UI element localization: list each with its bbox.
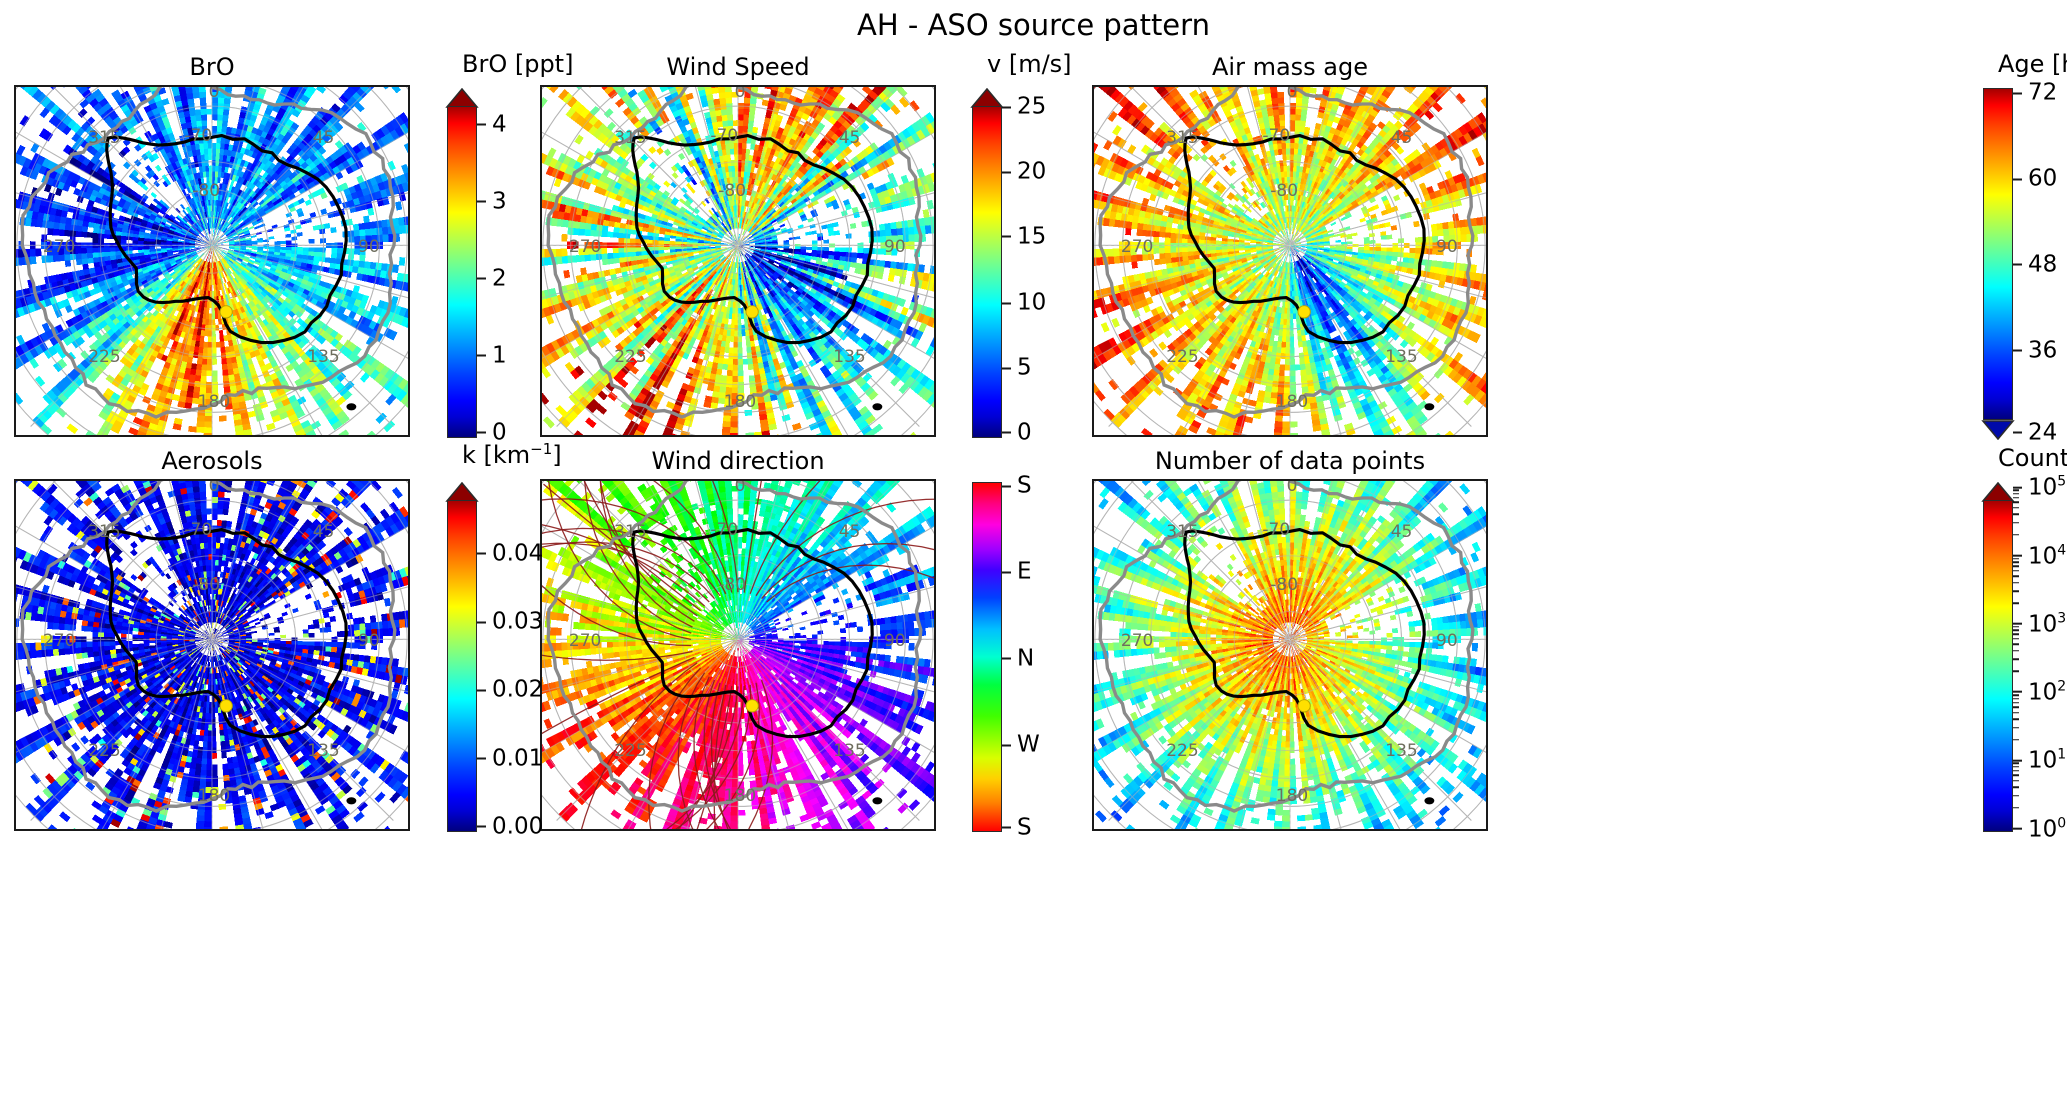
graticule-labels-number-of-data-points: 04590135180225270315-70-80 <box>1094 481 1486 829</box>
tick-dash <box>477 826 486 828</box>
colorbar-air-mass-age: Age [h]7260483624 <box>1983 88 2067 438</box>
colorbar-minor-tick <box>2013 514 2019 516</box>
colorbar-tick-number-of-data-points-1: 104 <box>2013 543 2066 568</box>
tick-dash <box>477 124 486 126</box>
panel-bro: BrO04590135180225270315-70-80 <box>14 85 410 437</box>
azimuth-label-0: 0 <box>209 479 220 496</box>
panel-wind-speed: Wind Speed04590135180225270315-70-80 <box>540 85 936 437</box>
colorbar-tick-wind-direction-1: E <box>1002 561 1032 584</box>
colorbar-gradient-wind-direction <box>972 482 1002 832</box>
tick-label: 10 <box>1017 292 1046 315</box>
colorbar-minor-tick <box>2013 712 2019 714</box>
azimuth-label-225: 225 <box>88 741 120 761</box>
tick-label: 100 <box>2028 816 2066 841</box>
colorbar-tick-wind-speed-0: 25 <box>1002 96 1046 119</box>
colorbar-minor-tick <box>2013 659 2019 661</box>
colorbar-tick-wind-direction-2: N <box>1002 647 1034 670</box>
azimuth-label-0: 0 <box>1287 85 1298 102</box>
panel-title-aerosols: Aerosols <box>14 447 410 475</box>
tick-dash <box>2013 178 2022 180</box>
azimuth-label-270: 270 <box>1121 631 1153 651</box>
colorbar-ticks-wind-direction: SENWS <box>1002 482 1122 832</box>
colorbar-minor-tick <box>2013 626 2019 628</box>
colorbar-ticks-number-of-data-points: 105104103102101100 <box>2013 500 2067 832</box>
colorbar-tick-air-mass-age-4: 24 <box>2013 421 2057 444</box>
axes-bro: 04590135180225270315-70-80 <box>14 85 410 437</box>
colorbar-minor-tick <box>2013 565 2019 567</box>
colorbar-extend-max-bro <box>445 88 479 108</box>
tick-label: W <box>1017 734 1040 757</box>
axes-wind-direction: 04590135180225270315-70-80 <box>540 479 936 831</box>
colorbar-tick-air-mass-age-3: 36 <box>2013 339 2057 362</box>
panel-title-wind-direction: Wind direction <box>540 447 936 475</box>
tick-dash <box>1002 106 1011 108</box>
tick-label: 25 <box>1017 96 1046 119</box>
tick-label: 0.00 <box>492 815 543 838</box>
colorbar-minor-tick <box>2013 650 2019 652</box>
axes-aerosols: 04590135180225270315-70-80 <box>14 479 410 831</box>
colorbar-tick-wind-speed-4: 5 <box>1002 357 1032 380</box>
colorbar-tick-number-of-data-points-2: 103 <box>2013 611 2066 636</box>
tick-dash <box>2013 555 2022 557</box>
tick-label: 5 <box>1017 357 1032 380</box>
colorbar-minor-tick <box>2013 787 2019 789</box>
azimuth-label-180: 180 <box>1276 786 1308 806</box>
azimuth-label-315: 315 <box>1166 128 1198 148</box>
colorbar-gradient-wind-speed <box>972 106 1002 438</box>
azimuth-label-45: 45 <box>839 128 861 148</box>
colorbar-minor-tick <box>2013 638 2019 640</box>
colorbar-ticks-aerosols: 0.040.030.020.010.00 <box>477 500 597 832</box>
tick-label: 36 <box>2028 339 2057 362</box>
colorbar-tick-wind-speed-5: 0 <box>1002 421 1032 444</box>
colorbar-tick-wind-speed-3: 10 <box>1002 292 1046 315</box>
azimuth-label-0: 0 <box>209 85 220 102</box>
latitude-label--80: -80 <box>718 181 746 201</box>
latitude-label--80: -80 <box>718 575 746 595</box>
colorbar-tick-bro-0: 4 <box>477 113 507 136</box>
tick-dash <box>1002 367 1011 369</box>
tick-label: 72 <box>2028 82 2057 105</box>
tick-dash <box>2013 691 2022 693</box>
colorbar-tick-aerosols-0: 0.04 <box>477 542 543 565</box>
tick-label: 0.04 <box>492 542 543 565</box>
tick-dash <box>2013 92 2022 94</box>
tick-dash <box>477 355 486 357</box>
colorbar-tick-aerosols-1: 0.03 <box>477 611 543 634</box>
panel-air-mass-age: Air mass age04590135180225270315-70-80 <box>1092 85 1488 437</box>
panel-wind-direction: Wind direction04590135180225270315-70-80 <box>540 479 936 831</box>
colorbar-extend-max-number-of-data-points <box>1981 482 2015 502</box>
colorbar-tick-wind-direction-4: S <box>1002 816 1032 839</box>
azimuth-label-45: 45 <box>839 522 861 542</box>
azimuth-label-270: 270 <box>43 237 75 257</box>
panel-title-bro: BrO <box>14 53 410 81</box>
tick-dash <box>2013 350 2022 352</box>
colorbar-extend-min-air-mass-age <box>1981 420 2015 440</box>
azimuth-label-270: 270 <box>43 631 75 651</box>
tick-dash <box>477 278 486 280</box>
colorbar-ticks-bro: 43210 <box>477 106 597 438</box>
azimuth-label-135: 135 <box>307 741 339 761</box>
latitude-label--80: -80 <box>192 181 220 201</box>
colorbar-tick-air-mass-age-2: 48 <box>2013 253 2057 276</box>
tick-dash <box>1002 827 1011 829</box>
colorbar-minor-tick <box>2013 694 2019 696</box>
colorbar-tick-aerosols-3: 0.01 <box>477 747 543 770</box>
tick-label: 104 <box>2028 543 2066 568</box>
colorbar-minor-tick <box>2013 602 2019 604</box>
colorbar-tick-air-mass-age-1: 60 <box>2013 168 2057 191</box>
colorbar-minor-tick <box>2013 582 2019 584</box>
azimuth-label-225: 225 <box>614 741 646 761</box>
tick-dash <box>1002 658 1011 660</box>
colorbar-minor-tick <box>2013 671 2019 673</box>
colorbar-minor-tick <box>2013 570 2019 572</box>
azimuth-label-180: 180 <box>198 392 230 412</box>
colorbar-minor-tick <box>2013 493 2019 495</box>
azimuth-label-315: 315 <box>614 522 646 542</box>
axes-wind-speed: 04590135180225270315-70-80 <box>540 85 936 437</box>
colorbar-minor-tick <box>2013 534 2019 536</box>
tick-dash <box>1002 236 1011 238</box>
tick-label: N <box>1017 647 1034 670</box>
graticule-labels-wind-direction: 04590135180225270315-70-80 <box>542 481 934 829</box>
tick-label: 60 <box>2028 168 2057 191</box>
colorbar-tick-wind-speed-2: 15 <box>1002 225 1046 248</box>
colorbar-wind-speed: v [m/s]2520151050 <box>972 88 1122 438</box>
tick-dash <box>477 758 486 760</box>
tick-dash <box>1002 171 1011 173</box>
azimuth-label-225: 225 <box>614 347 646 367</box>
tick-dash <box>477 432 486 434</box>
tick-dash <box>477 201 486 203</box>
colorbar-aerosols: k [km−1]0.040.030.020.010.00 <box>447 482 597 832</box>
azimuth-label-315: 315 <box>1166 522 1198 542</box>
tick-label: 20 <box>1017 161 1046 184</box>
colorbar-ticks-wind-speed: 2520151050 <box>1002 106 1122 438</box>
colorbar-minor-tick <box>2013 698 2019 700</box>
graticule-labels-wind-speed: 04590135180225270315-70-80 <box>542 87 934 435</box>
tick-label: S <box>1017 816 1032 839</box>
colorbar-ticks-air-mass-age: 7260483624 <box>2013 88 2067 420</box>
tick-dash <box>1002 302 1011 304</box>
colorbar-minor-tick <box>2013 507 2019 509</box>
colorbar-extend-max-wind-speed <box>970 88 1004 108</box>
latitude-label--70: -70 <box>184 126 212 146</box>
azimuth-label-135: 135 <box>833 347 865 367</box>
tick-label: 105 <box>2028 475 2066 500</box>
colorbar-minor-tick <box>2013 497 2019 499</box>
colorbar-bro: BrO [ppt]43210 <box>447 88 597 438</box>
colorbar-title-air-mass-age: Age [h] <box>1998 50 2067 78</box>
colorbar-tick-aerosols-2: 0.02 <box>477 679 543 702</box>
tick-label: E <box>1017 561 1032 584</box>
tick-label: 103 <box>2028 611 2066 636</box>
azimuth-label-90: 90 <box>884 237 906 257</box>
colorbar-gradient-bro <box>447 106 477 438</box>
azimuth-label-45: 45 <box>1391 522 1413 542</box>
colorbar-tick-wind-direction-3: W <box>1002 734 1040 757</box>
tick-dash <box>2013 828 2022 830</box>
tick-label: 101 <box>2028 748 2066 773</box>
tick-dash <box>2013 432 2022 434</box>
azimuth-label-45: 45 <box>1391 128 1413 148</box>
colorbar-minor-tick <box>2013 561 2019 563</box>
tick-label: 0 <box>1017 421 1032 444</box>
colorbar-minor-tick <box>2013 727 2019 729</box>
colorbar-tick-bro-1: 3 <box>477 190 507 213</box>
azimuth-label-0: 0 <box>735 479 746 496</box>
azimuth-label-225: 225 <box>88 347 120 367</box>
colorbar-minor-tick <box>2013 795 2019 797</box>
colorbar-minor-tick <box>2013 775 2019 777</box>
azimuth-label-225: 225 <box>1166 741 1198 761</box>
azimuth-label-315: 315 <box>88 522 120 542</box>
colorbar-minor-tick <box>2013 739 2019 741</box>
colorbar-minor-tick <box>2013 718 2019 720</box>
colorbar-gradient-number-of-data-points <box>1983 500 2013 832</box>
colorbar-minor-tick <box>2013 590 2019 592</box>
panel-title-number-of-data-points: Number of data points <box>1092 447 1488 475</box>
latitude-label--80: -80 <box>1270 575 1298 595</box>
latitude-label--70: -70 <box>1262 520 1290 540</box>
tick-dash <box>1002 571 1011 573</box>
tick-dash <box>2013 759 2022 761</box>
colorbar-minor-tick <box>2013 522 2019 524</box>
latitude-label--70: -70 <box>184 520 212 540</box>
latitude-label--70: -70 <box>1262 126 1290 146</box>
colorbar-tick-number-of-data-points-0: 105 <box>2013 475 2066 500</box>
azimuth-label-315: 315 <box>614 128 646 148</box>
axes-number-of-data-points: 04590135180225270315-70-80 <box>1092 479 1488 831</box>
tick-dash <box>477 621 486 623</box>
latitude-label--70: -70 <box>710 520 738 540</box>
tick-dash <box>2013 623 2022 625</box>
azimuth-label-135: 135 <box>1385 347 1417 367</box>
colorbar-gradient-air-mass-age <box>1983 88 2013 420</box>
tick-dash <box>2013 264 2022 266</box>
tick-label: 3 <box>492 190 507 213</box>
colorbar-minor-tick <box>2013 702 2019 704</box>
tick-dash <box>477 553 486 555</box>
graticule-labels-air-mass-age: 04590135180225270315-70-80 <box>1094 87 1486 435</box>
figure-canvas: AH - ASO source pattern BrO0459013518022… <box>0 0 2067 1116</box>
tick-dash <box>1002 485 1011 487</box>
colorbar-minor-tick <box>2013 490 2019 492</box>
tick-label: S <box>1017 475 1032 498</box>
colorbar-minor-tick <box>2013 558 2019 560</box>
azimuth-label-180: 180 <box>724 392 756 412</box>
colorbar-title-aerosols: k [km−1] <box>462 440 562 469</box>
latitude-label--70: -70 <box>710 126 738 146</box>
azimuth-label-270: 270 <box>1121 237 1153 257</box>
azimuth-label-180: 180 <box>198 786 230 806</box>
colorbar-tick-number-of-data-points-5: 100 <box>2013 816 2066 841</box>
colorbar-title-wind-speed: v [m/s] <box>987 50 1072 78</box>
figure-title: AH - ASO source pattern <box>0 8 2067 42</box>
tick-label: 15 <box>1017 225 1046 248</box>
azimuth-label-180: 180 <box>724 786 756 806</box>
azimuth-label-0: 0 <box>1287 479 1298 496</box>
panel-title-air-mass-age: Air mass age <box>1092 53 1488 81</box>
colorbar-tick-wind-direction-0: S <box>1002 475 1032 498</box>
azimuth-label-0: 0 <box>735 85 746 102</box>
tick-label: 48 <box>2028 253 2057 276</box>
tick-label: 102 <box>2028 680 2066 705</box>
colorbar-minor-tick <box>2013 706 2019 708</box>
tick-dash <box>2013 486 2022 488</box>
colorbar-minor-tick <box>2013 763 2019 765</box>
panel-aerosols: Aerosols04590135180225270315-70-80 <box>14 479 410 831</box>
colorbar-minor-tick <box>2013 630 2019 632</box>
colorbar-tick-bro-3: 1 <box>477 344 507 367</box>
tick-label: 0.02 <box>492 679 543 702</box>
azimuth-label-90: 90 <box>358 237 380 257</box>
azimuth-label-45: 45 <box>313 522 335 542</box>
colorbar-minor-tick <box>2013 502 2019 504</box>
graticule-labels-aerosols: 04590135180225270315-70-80 <box>16 481 408 829</box>
tick-label: 24 <box>2028 421 2057 444</box>
colorbar-tick-number-of-data-points-4: 101 <box>2013 748 2066 773</box>
colorbar-tick-air-mass-age-0: 72 <box>2013 82 2057 105</box>
colorbar-tick-wind-speed-1: 20 <box>1002 161 1046 184</box>
azimuth-label-90: 90 <box>358 631 380 651</box>
colorbar-minor-tick <box>2013 780 2019 782</box>
colorbar-title-bro: BrO [ppt] <box>462 50 573 78</box>
azimuth-label-135: 135 <box>307 347 339 367</box>
tick-dash <box>1002 432 1011 434</box>
colorbar-minor-tick <box>2013 575 2019 577</box>
graticule-labels-bro: 04590135180225270315-70-80 <box>16 87 408 435</box>
tick-label: 1 <box>492 344 507 367</box>
azimuth-label-315: 315 <box>88 128 120 148</box>
axes-air-mass-age: 04590135180225270315-70-80 <box>1092 85 1488 437</box>
tick-label: 0.01 <box>492 747 543 770</box>
panel-title-wind-speed: Wind Speed <box>540 53 936 81</box>
azimuth-label-90: 90 <box>1436 237 1458 257</box>
colorbar-tick-number-of-data-points-3: 102 <box>2013 680 2066 705</box>
tick-label: 2 <box>492 267 507 290</box>
colorbar-minor-tick <box>2013 766 2019 768</box>
colorbar-extend-max-aerosols <box>445 482 479 502</box>
azimuth-label-135: 135 <box>1385 741 1417 761</box>
tick-dash <box>1002 744 1011 746</box>
tick-label: 4 <box>492 113 507 136</box>
colorbar-tick-bro-2: 2 <box>477 267 507 290</box>
azimuth-label-45: 45 <box>313 128 335 148</box>
colorbar-minor-tick <box>2013 807 2019 809</box>
azimuth-label-180: 180 <box>1276 392 1308 412</box>
colorbar-number-of-data-points: Count105104103102101100 <box>1983 482 2067 832</box>
azimuth-label-135: 135 <box>833 741 865 761</box>
colorbar-gradient-aerosols <box>447 500 477 832</box>
tick-dash <box>477 689 486 691</box>
colorbar-minor-tick <box>2013 644 2019 646</box>
colorbar-minor-tick <box>2013 770 2019 772</box>
azimuth-label-225: 225 <box>1166 347 1198 367</box>
colorbar-title-number-of-data-points: Count <box>1998 444 2067 472</box>
azimuth-label-90: 90 <box>884 631 906 651</box>
latitude-label--80: -80 <box>1270 181 1298 201</box>
tick-label: 0.03 <box>492 611 543 634</box>
latitude-label--80: -80 <box>192 575 220 595</box>
colorbar-tick-aerosols-4: 0.00 <box>477 815 543 838</box>
panel-number-of-data-points: Number of data points0459013518022527031… <box>1092 479 1488 831</box>
azimuth-label-90: 90 <box>1436 631 1458 651</box>
colorbar-wind-direction: SENWS <box>972 482 1122 832</box>
colorbar-minor-tick <box>2013 634 2019 636</box>
